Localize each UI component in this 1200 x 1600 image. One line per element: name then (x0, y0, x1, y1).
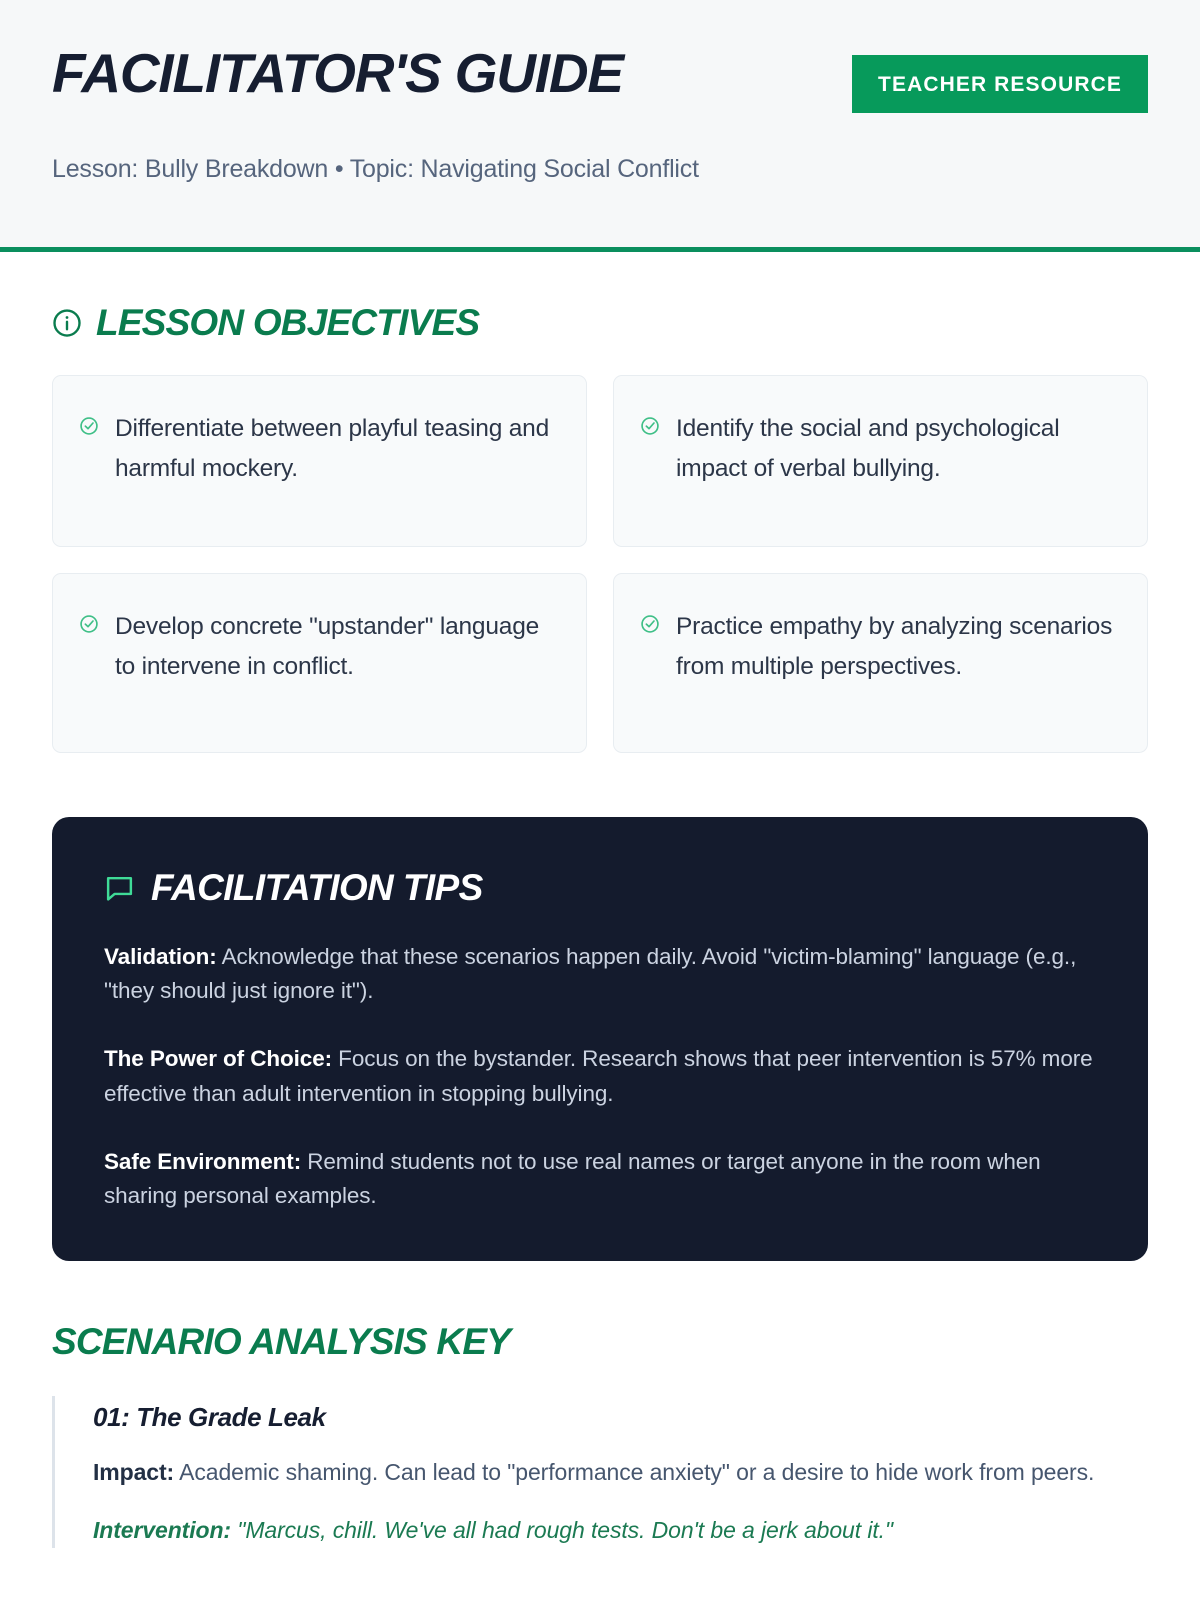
scenario-title: 01: The Grade Leak (93, 1404, 1148, 1430)
objective-card: Develop concrete "upstander" language to… (52, 573, 587, 753)
check-circle-icon (640, 614, 660, 634)
teacher-resource-badge: TEACHER RESOURCE (852, 55, 1148, 113)
header-top-row: FACILITATOR'S GUIDE TEACHER RESOURCE (52, 46, 1148, 113)
objective-text: Identify the social and psychological im… (676, 409, 1119, 488)
objective-text: Differentiate between playful teasing an… (115, 409, 558, 488)
scenario-key-title: SCENARIO ANALYSIS KEY (52, 1323, 510, 1360)
scenario-impact: Impact: Academic shaming. Can lead to "p… (93, 1455, 1148, 1491)
intervention-text: "Marcus, chill. We've all had rough test… (231, 1517, 893, 1543)
tips-title: FACILITATION TIPS (151, 869, 483, 906)
tip-item: Safe Environment: Remind students not to… (104, 1145, 1096, 1213)
objective-card: Identify the social and psychological im… (613, 375, 1148, 547)
speech-bubble-icon (104, 872, 135, 903)
lesson-subtitle: Lesson: Bully Breakdown • Topic: Navigat… (52, 155, 1148, 184)
objectives-section-header: LESSON OBJECTIVES (52, 304, 1148, 341)
scenario-key-section-header: SCENARIO ANALYSIS KEY (52, 1323, 1148, 1360)
tip-label: Validation: (104, 944, 217, 969)
info-circle-icon (52, 308, 82, 338)
tip-label: Safe Environment: (104, 1149, 301, 1174)
objectives-grid: Differentiate between playful teasing an… (52, 375, 1148, 753)
tip-item: Validation: Acknowledge that these scena… (104, 940, 1096, 1008)
scenario-item: 01: The Grade Leak Impact: Academic sham… (52, 1396, 1148, 1548)
check-circle-icon (79, 614, 99, 634)
tips-section-header: FACILITATION TIPS (104, 869, 1096, 906)
page-header: FACILITATOR'S GUIDE TEACHER RESOURCE Les… (0, 0, 1200, 252)
check-circle-icon (79, 416, 99, 436)
scenario-intervention: Intervention: "Marcus, chill. We've all … (93, 1513, 1148, 1549)
main-content: LESSON OBJECTIVES Differentiate between … (0, 304, 1200, 1548)
impact-label: Impact: (93, 1459, 174, 1485)
intervention-label: Intervention: (93, 1517, 231, 1543)
impact-text: Academic shaming. Can lead to "performan… (174, 1459, 1094, 1485)
tip-item: The Power of Choice: Focus on the bystan… (104, 1042, 1096, 1110)
facilitation-tips-panel: FACILITATION TIPS Validation: Acknowledg… (52, 817, 1148, 1261)
check-circle-icon (640, 416, 660, 436)
objective-text: Practice empathy by analyzing scenarios … (676, 607, 1119, 686)
page-title: FACILITATOR'S GUIDE (52, 46, 623, 101)
objective-text: Develop concrete "upstander" language to… (115, 607, 558, 686)
tip-text: Acknowledge that these scenarios happen … (104, 944, 1076, 1003)
objectives-title: LESSON OBJECTIVES (96, 304, 479, 341)
tip-label: The Power of Choice: (104, 1046, 332, 1071)
objective-card: Practice empathy by analyzing scenarios … (613, 573, 1148, 753)
objective-card: Differentiate between playful teasing an… (52, 375, 587, 547)
